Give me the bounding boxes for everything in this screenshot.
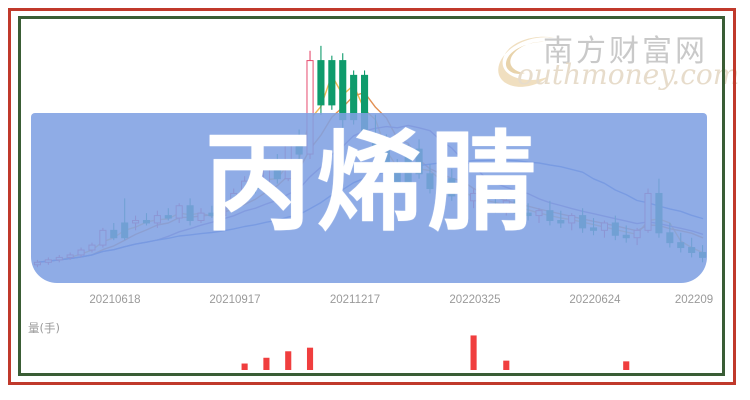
screenshot-root: 丙烯腈 202106182021091720211217202203252022… bbox=[0, 0, 750, 400]
x-axis-tick-0: 20210618 bbox=[89, 294, 140, 306]
x-axis-tick-5: 202209 bbox=[675, 294, 713, 306]
x-axis-tick-labels: 2021061820210917202112172022032520220624… bbox=[24, 294, 720, 314]
x-axis-tick-2: 20211217 bbox=[330, 294, 380, 306]
price-candlestick-pane bbox=[24, 22, 720, 290]
volume-pane: 量(手) bbox=[24, 320, 720, 370]
price-candlestick-svg bbox=[24, 22, 720, 290]
stock-chart-card: 丙烯腈 202106182021091720211217202203252022… bbox=[24, 22, 720, 370]
volume-plot bbox=[24, 334, 720, 370]
volume-bars-svg bbox=[24, 334, 720, 370]
x-axis-tick-1: 20210917 bbox=[209, 294, 260, 306]
x-axis-tick-4: 20220624 bbox=[569, 294, 620, 306]
x-axis-tick-3: 20220325 bbox=[449, 294, 500, 306]
